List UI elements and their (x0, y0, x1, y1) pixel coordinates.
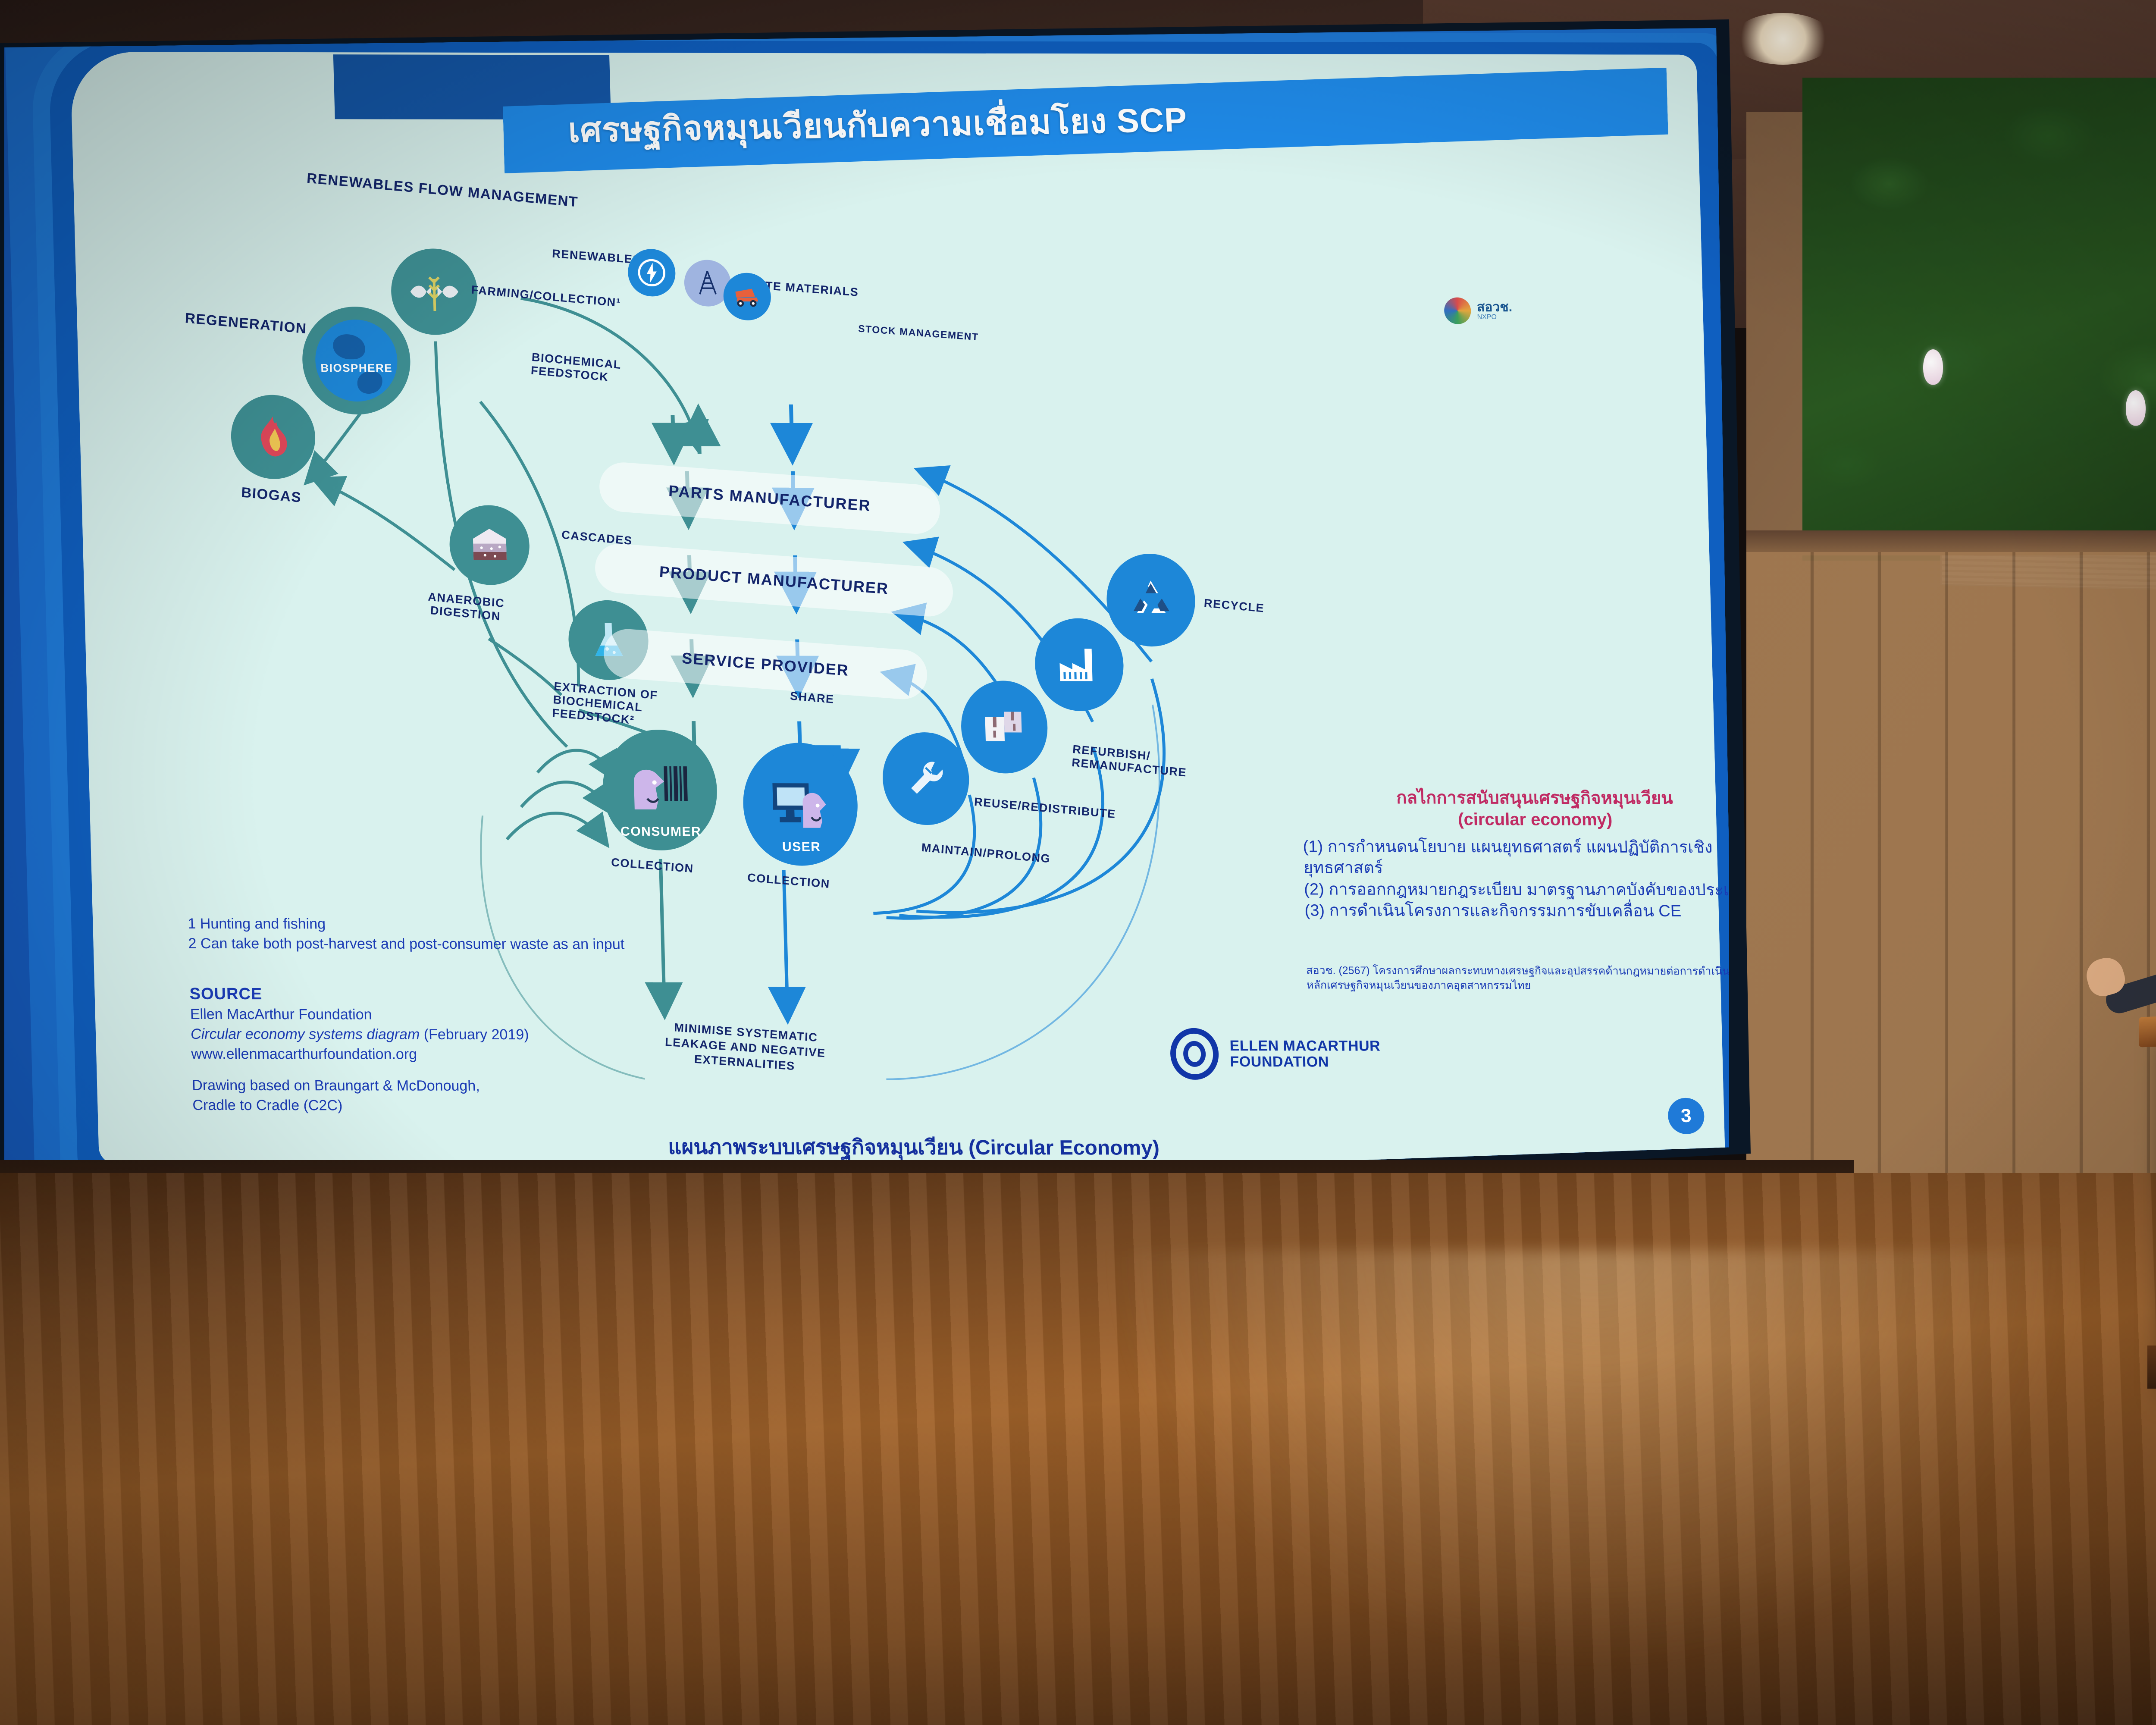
thai-citation: สอวช. (2567) โครงการศึกษาผลกระทบทางเศรษฐ… (1306, 963, 1729, 993)
thai-heading-line-2: (circular economy) (1315, 809, 1729, 831)
source-line-1: Ellen MacArthur Foundation (190, 1005, 529, 1025)
user-monitor-glyph (767, 777, 833, 832)
screenshot-stage: เศรษฐกิจหมุนเวียนกับความเชื่อมโยง SCP สอ… (0, 0, 2156, 1725)
ellen-macarthur-foundation-logo: ELLEN MACARTHUR FOUNDATION (1170, 1028, 1382, 1080)
source-diagram-title: Circular economy systems diagram (191, 1026, 420, 1043)
drawing-credit: Drawing based on Braungart & McDonough, … (192, 1076, 481, 1116)
flame-glyph (253, 414, 294, 459)
source-header: SOURCE (189, 983, 263, 1006)
source-line-2: Circular economy systems diagram (Februa… (191, 1025, 530, 1045)
orchid-flower (2126, 390, 2146, 426)
node-label-biosphere: BIOSPHERE (315, 361, 398, 375)
drawing-credit-line-2: Cradle to Cradle (C2C) (192, 1096, 481, 1116)
chip-label: PRODUCT MANUFACTURER (659, 562, 889, 598)
podium-base (2147, 1345, 2156, 1389)
fish-and-wheat-glyph (407, 268, 462, 315)
emf-logo-line-2: FOUNDATION (1230, 1054, 1381, 1070)
node-label-consumer: CONSUMER (604, 825, 718, 839)
footnote-2: 2 Can take both post-harvest and post-co… (188, 934, 625, 955)
wrench-glyph (903, 756, 949, 801)
projected-slide: เศรษฐกิจหมุนเวียนกับความเชื่อมโยง SCP สอ… (4, 26, 1729, 1216)
thai-mechanism-list: (1) การกำหนดนโยบาย แผนยุทธศาสตร์ แผนปฏิบ… (1303, 837, 1729, 922)
boxes-glyph (981, 706, 1028, 748)
source-line-3: www.ellenmacarthurfoundation.org (191, 1044, 530, 1065)
slide-canvas: เศรษฐกิจหมุนเวียนกับความเชื่อมโยง SCP สอ… (4, 26, 1729, 1216)
continent-shape (333, 334, 366, 359)
recycle-glyph (1126, 577, 1176, 624)
organisation-logo-text: สอวช. NXPO (1477, 301, 1513, 321)
thai-list-item: (1) การกำหนดนโยบาย แผนยุทธศาสตร์ แผนปฏิบ… (1303, 837, 1729, 880)
digester-tank-glyph (469, 525, 510, 565)
dump-truck-glyph (732, 286, 762, 307)
earth-globe-icon: BIOSPHERE (314, 320, 398, 401)
emf-logo-text: ELLEN MACARTHUR FOUNDATION (1229, 1038, 1381, 1070)
lightning-bolt-glyph (636, 257, 667, 288)
thai-list-item: (2) การออกกฎหมายกฎระเบียบ มาตรฐานภาคบังค… (1304, 879, 1729, 901)
factory-glyph (1055, 643, 1104, 686)
green-plant-wall (1802, 78, 2156, 561)
chip-label: SERVICE PROVIDER (681, 649, 849, 680)
organisation-logo: สอวช. NXPO (1444, 292, 1574, 330)
thai-heading: กลไกการสนับสนุนเศรษฐกิจหมุนเวียน (circul… (1314, 787, 1729, 831)
footnote-1: 1 Hunting and fishing (188, 914, 624, 935)
emf-rings-icon (1170, 1028, 1219, 1080)
footnote-list: 1 Hunting and fishing 2 Can take both po… (188, 914, 625, 955)
orchid-flower (1923, 349, 1943, 385)
floor-reflection (1035, 1251, 2156, 1725)
drilling-tower-glyph (695, 270, 720, 297)
thai-list-item: (3) การดำเนินโครงการและกิจกรรมการขับเคลื… (1304, 900, 1729, 922)
source-block: Ellen MacArthur Foundation Circular econ… (190, 1005, 530, 1065)
thai-heading-line-1: กลไกการสนับสนุนเศรษฐกิจหมุนเวียน (1314, 787, 1729, 809)
consumer-head-barcode-glyph (627, 762, 693, 818)
node-label-user: USER (744, 840, 859, 854)
source-diagram-date: (February 2019) (420, 1026, 529, 1043)
slide-caption: แผนภาพระบบเศรษฐกิจหมุนเวียน (Circular Ec… (667, 1131, 1159, 1164)
emf-logo-line-1: ELLEN MACARTHUR (1229, 1038, 1380, 1054)
ceiling-light (1733, 13, 1833, 65)
drawing-credit-line-1: Drawing based on Braungart & McDonough, (192, 1076, 480, 1096)
nxpo-emblem-icon (1444, 298, 1471, 324)
chip-label: PARTS MANUFACTURER (668, 482, 871, 515)
